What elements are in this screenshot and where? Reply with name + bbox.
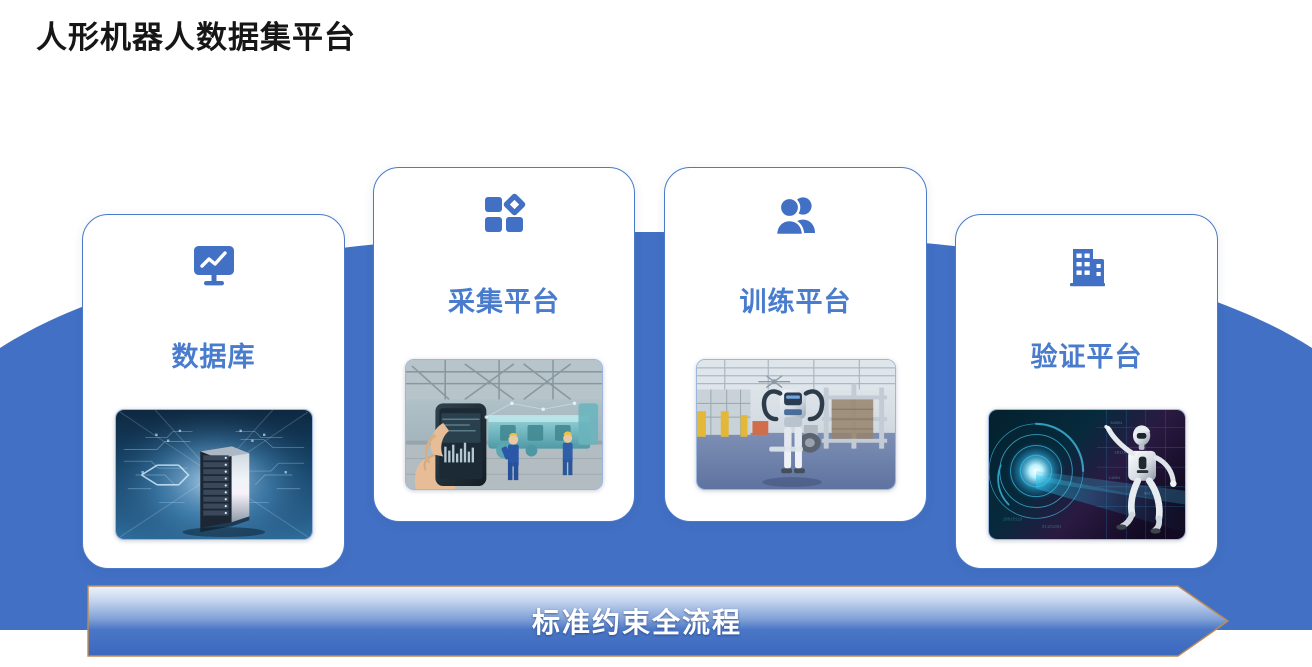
svg-text:10010110: 10010110 bbox=[1002, 518, 1022, 522]
svg-text:10110: 10110 bbox=[1114, 451, 1126, 455]
slide-canvas: 人形机器人数据集平台 数据库 bbox=[0, 0, 1312, 667]
monitor-chart-icon bbox=[190, 243, 238, 289]
thumbnail-factory-tablet bbox=[405, 359, 603, 490]
card-title-database: 数据库 bbox=[172, 335, 256, 374]
page-title: 人形机器人数据集平台 bbox=[36, 18, 356, 58]
thumbnail-server-rack bbox=[115, 409, 313, 540]
process-banner-label: 标准约束全流程 bbox=[87, 585, 1187, 657]
card-database[interactable]: 数据库 bbox=[82, 214, 345, 569]
svg-text:01101001: 01101001 bbox=[1041, 526, 1061, 530]
svg-text:01001: 01001 bbox=[1110, 422, 1122, 426]
thumbnail-humanoid-hologram: 0100111010 1011001101 1100100111 bbox=[988, 409, 1186, 540]
users-icon bbox=[772, 192, 820, 238]
card-title-verify: 验证平台 bbox=[1031, 335, 1143, 374]
thumbnail-humanoid-warehouse bbox=[696, 359, 896, 490]
card-collect[interactable]: 采集平台 bbox=[373, 167, 635, 522]
card-verify[interactable]: 验证平台 bbox=[955, 214, 1218, 569]
process-banner[interactable]: 标准约束全流程 bbox=[87, 585, 1229, 657]
card-title-train: 训练平台 bbox=[740, 280, 852, 319]
card-title-collect: 采集平台 bbox=[448, 280, 560, 319]
card-train[interactable]: 训练平台 bbox=[664, 167, 927, 522]
grid-blocks-icon bbox=[480, 192, 528, 238]
svg-text:11001: 11001 bbox=[1108, 477, 1120, 481]
building-icon bbox=[1063, 243, 1111, 289]
